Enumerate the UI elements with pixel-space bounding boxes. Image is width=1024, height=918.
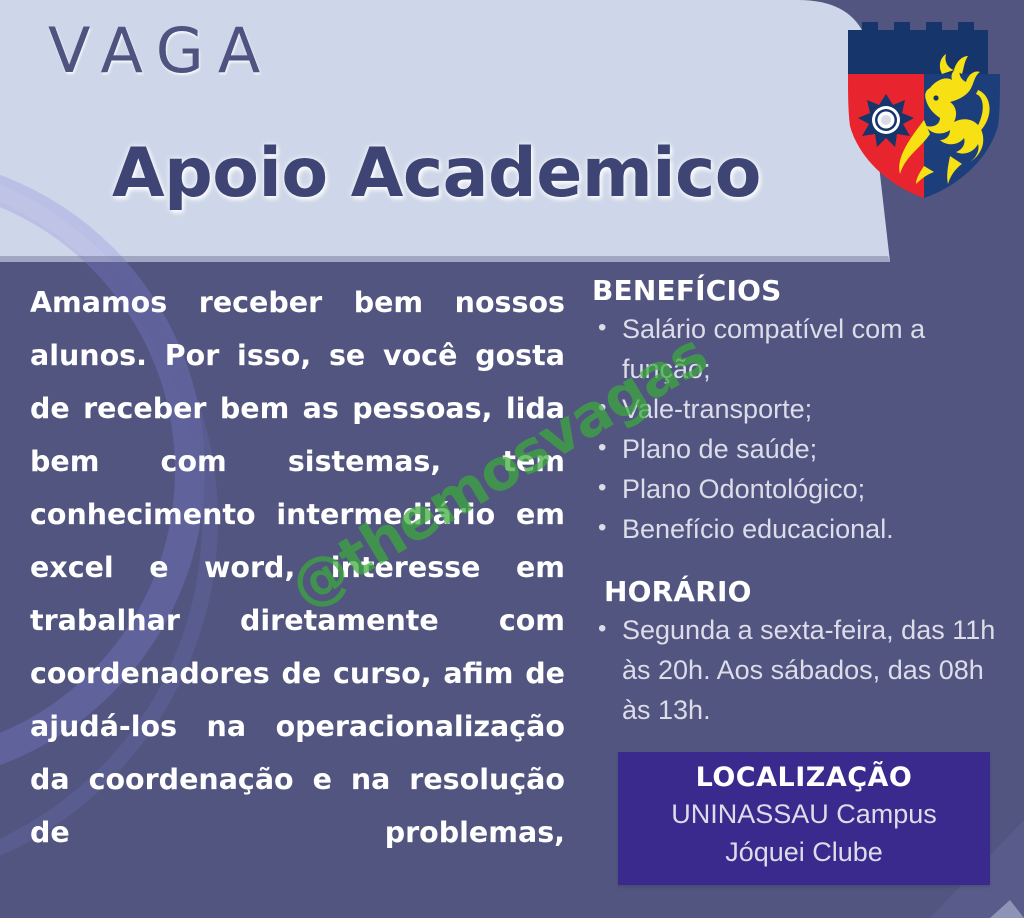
job-vacancy-poster: VAGA Apoio Academico (0, 0, 1024, 918)
section-spacer (592, 549, 1012, 575)
veritas-crest-logo (838, 16, 1010, 208)
list-item: Benefício educacional. (592, 509, 1012, 549)
list-item: Plano Odontológico; (592, 469, 1012, 509)
benefits-list: Salário compatível com a função; Vale-tr… (592, 309, 1012, 549)
description-cta: inscreva-se na vaga! (30, 912, 565, 918)
description-text: Amamos receber bem nossos alunos. Por is… (30, 276, 565, 912)
list-item: Salário compatível com a função; (592, 309, 1012, 389)
schedule-heading: HORÁRIO (592, 575, 1012, 608)
location-box: LOCALIZAÇÃO UNINASSAU Campus Jóquei Club… (618, 752, 990, 885)
schedule-list: Segunda a sexta-feira, das 11h às 20h. A… (592, 610, 1012, 730)
list-item: Segunda a sexta-feira, das 11h às 20h. A… (592, 610, 1012, 730)
location-heading: LOCALIZAÇÃO (630, 762, 978, 793)
kicker-label: VAGA (48, 14, 274, 87)
location-value: UNINASSAU Campus Jóquei Clube (630, 795, 978, 871)
benefits-heading: BENEFÍCIOS (592, 274, 1012, 307)
list-item: Plano de saúde; (592, 429, 1012, 469)
main-content: Amamos receber bem nossos alunos. Por is… (0, 262, 1024, 918)
details-column: BENEFÍCIOS Salário compatível com a funç… (592, 274, 1012, 885)
page-title: Apoio Academico (112, 134, 761, 213)
description-column: Amamos receber bem nossos alunos. Por is… (30, 276, 565, 918)
list-item: Vale-transporte; (592, 389, 1012, 429)
